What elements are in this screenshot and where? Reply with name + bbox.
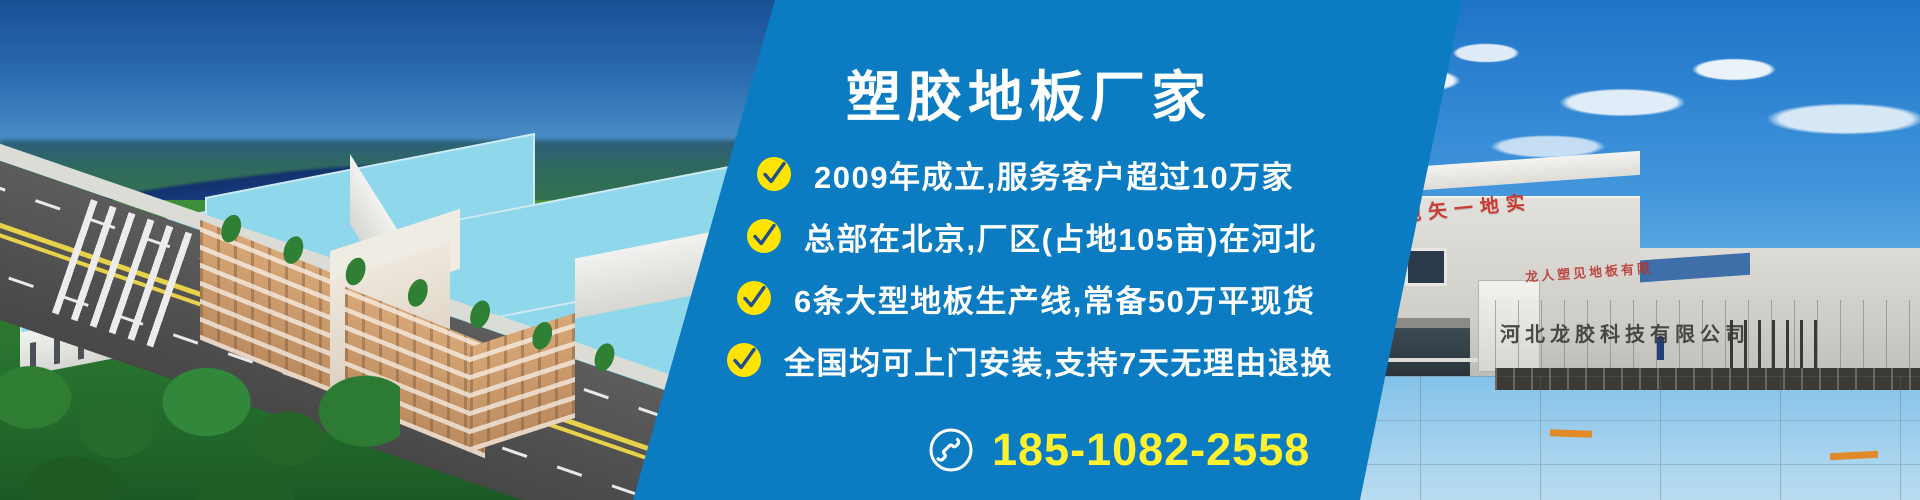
list-item-label: 全国均可上门安装,支持7天无理由退换 [784,338,1333,383]
list-item: 全国均可上门安装,支持7天无理由退换 [0,329,1920,391]
check-circle-icon [746,218,782,254]
contact-phone-row[interactable]: 185-1082-2558 [0,424,1920,476]
promo-banner: 一人泡矢一地实 龙人塑见地板有限 河北龙胶科技有限公司 塑胶地板厂家 2009年… [0,0,1920,500]
check-circle-icon [726,342,762,378]
list-item-label: 6条大型地板生产线,常备50万平现货 [794,276,1315,321]
check-circle-icon [736,280,772,316]
selling-points-list: 2009年成立,服务客户超过10万家 总部在北京,厂区(占地105亩)在河北 6… [0,143,1920,391]
list-item: 2009年成立,服务客户超过10万家 [0,143,1920,205]
phone-number-text[interactable]: 185-1082-2558 [992,424,1310,476]
list-item: 6条大型地板生产线,常备50万平现货 [0,267,1920,329]
banner-title: 塑胶地板厂家 [0,52,1920,132]
check-circle-icon [756,156,792,192]
phone-handset-icon [928,427,974,473]
list-item-label: 总部在北京,厂区(占地105亩)在河北 [804,214,1316,259]
list-item-label: 2009年成立,服务客户超过10万家 [814,152,1294,197]
banner-content: 塑胶地板厂家 2009年成立,服务客户超过10万家 总部在北京,厂区(占地105… [0,0,1920,500]
list-item: 总部在北京,厂区(占地105亩)在河北 [0,205,1920,267]
